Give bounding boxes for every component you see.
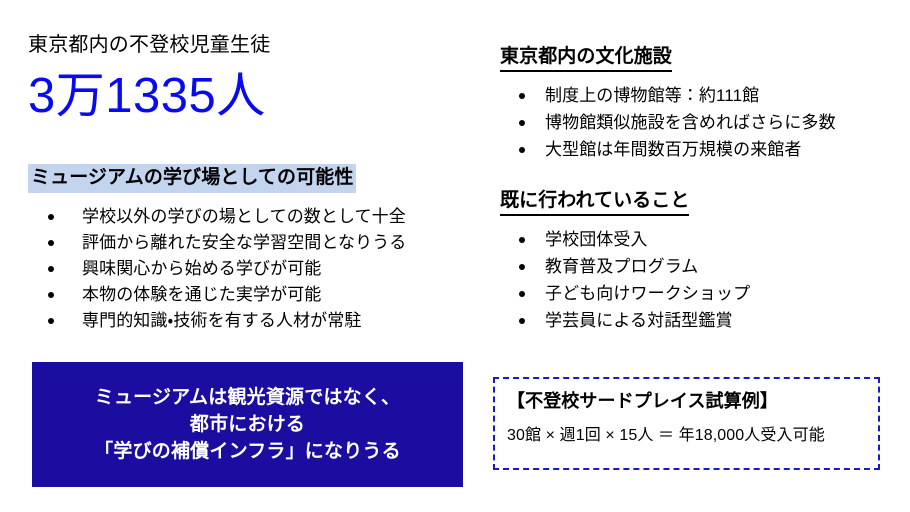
list-item: 学校以外の学びの場としての数として十全 <box>28 205 468 228</box>
estimate-box-title: 【不登校サードプレイス試算例】 <box>507 389 866 413</box>
stat-label: 東京都内の不登校児童生徒 <box>28 32 468 58</box>
cultural-facilities-bullet-list: 制度上の博物館等：約111館 博物館類似施設を含めればさらに多数 大型館は年間数… <box>500 84 900 162</box>
section-heading: 既に行われていること <box>500 188 689 216</box>
list-item: 教育普及プログラム <box>500 255 900 279</box>
cultural-facilities-section: 東京都内の文化施設 制度上の博物館等：約111館 博物館類似施設を含めればさらに… <box>500 44 900 162</box>
list-item: 子ども向けワークショップ <box>500 282 900 306</box>
right-column: 東京都内の文化施設 制度上の博物館等：約111館 博物館類似施設を含めればさらに… <box>500 44 900 336</box>
possibility-section: ミュージアムの学び場としての可能性 学校以外の学びの場としての数として十全 評価… <box>28 126 468 332</box>
list-item: 興味関心から始める学びが可能 <box>28 257 468 280</box>
list-item: 評価から離れた安全な学習空間となりうる <box>28 231 468 254</box>
highlighted-heading: ミュージアムの学び場としての可能性 <box>28 164 356 193</box>
callout-line: 「学びの補償インフラ」になりうる <box>94 438 401 465</box>
section-heading: 東京都内の文化施設 <box>500 44 672 72</box>
callout-line: ミュージアムは観光資源ではなく、 <box>95 384 401 411</box>
estimate-box: 【不登校サードプレイス試算例】 30館 × 週1回 × 15人 ＝ 年18,00… <box>493 377 880 470</box>
list-item: 学校団体受入 <box>500 228 900 252</box>
list-item: 博物館類似施設を含めればさらに多数 <box>500 111 900 135</box>
slide-canvas: 東京都内の不登校児童生徒 3万1335人 ミュージアムの学び場としての可能性 学… <box>0 0 910 512</box>
list-item: 大型館は年間数百万規模の来館者 <box>500 138 900 162</box>
list-item: 学芸員による対話型鑑賞 <box>500 309 900 333</box>
callout-line: 都市における <box>190 411 305 438</box>
stat-number: 3万1335人 <box>28 66 468 126</box>
left-column: 東京都内の不登校児童生徒 3万1335人 ミュージアムの学び場としての可能性 学… <box>28 32 468 335</box>
existing-activities-bullet-list: 学校団体受入 教育普及プログラム 子ども向けワークショップ 学芸員による対話型鑑… <box>500 228 900 333</box>
possibility-bullet-list: 学校以外の学びの場としての数として十全 評価から離れた安全な学習空間となりうる … <box>28 205 468 332</box>
conclusion-callout-box: ミュージアムは観光資源ではなく、 都市における 「学びの補償インフラ」になりうる <box>32 362 463 487</box>
existing-activities-section: 既に行われていること 学校団体受入 教育普及プログラム 子ども向けワークショップ… <box>500 188 900 333</box>
list-item: 専門的知識・技術を有する人材が常駐 <box>28 309 468 332</box>
list-item: 本物の体験を通じた実学が可能 <box>28 283 468 306</box>
list-item: 制度上の博物館等：約111館 <box>500 84 900 108</box>
estimate-calculation: 30館 × 週1回 × 15人 ＝ 年18,000人受入可能 <box>507 425 866 447</box>
